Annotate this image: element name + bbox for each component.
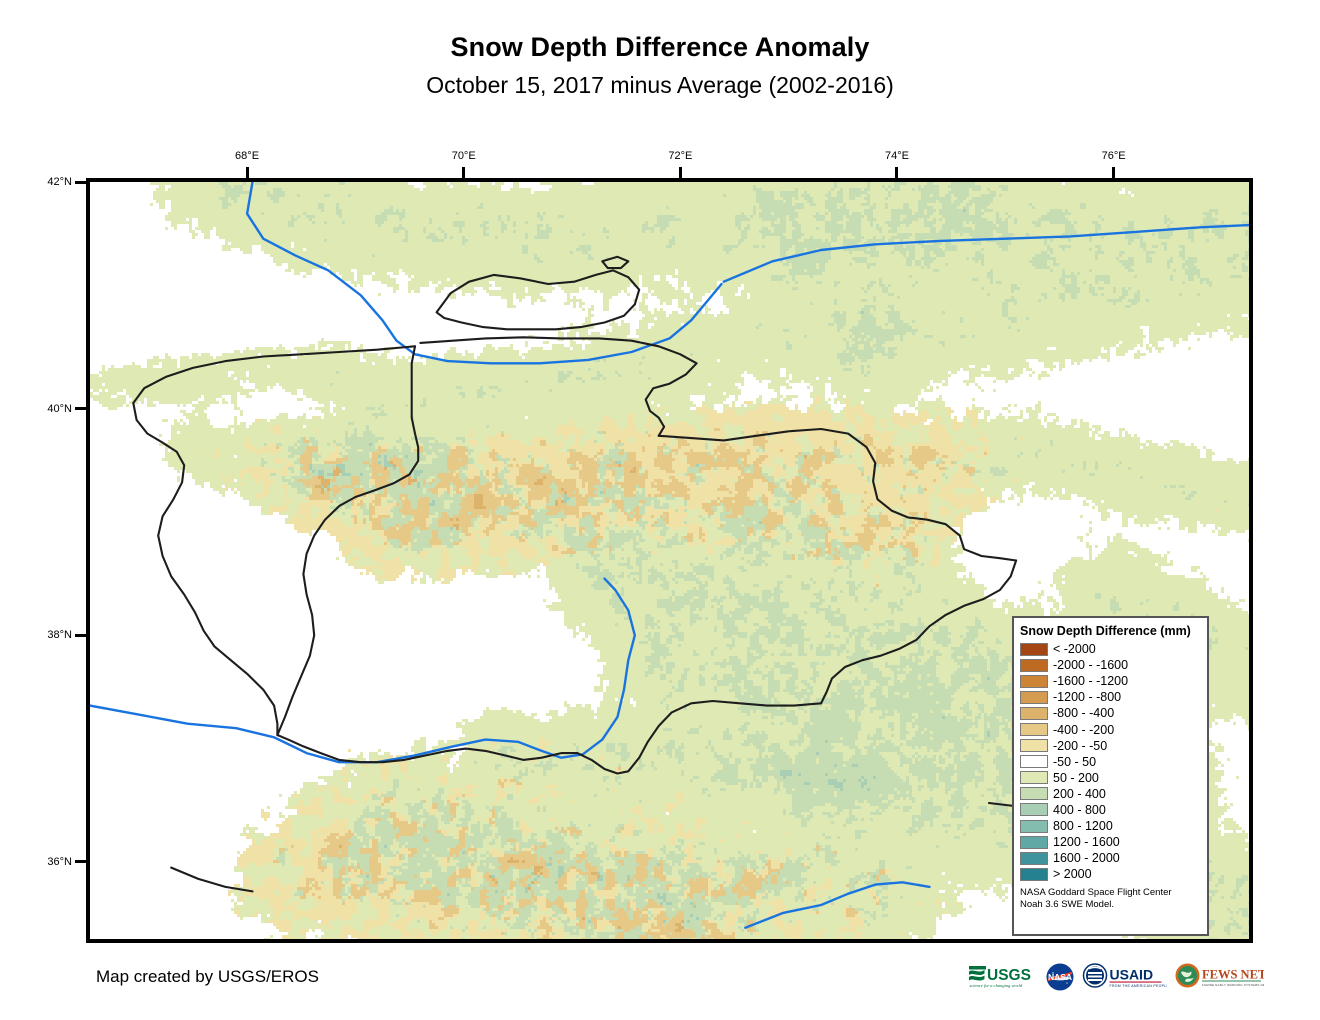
legend-row: -1600 - -1200 [1020,673,1201,689]
river-line [724,225,1249,282]
river-line [745,882,929,927]
legend-swatch [1020,803,1048,816]
longitude-tick [246,167,249,178]
country-border-line [133,346,415,735]
legend-row: -400 - -200 [1020,721,1201,737]
legend-label: 1600 - 2000 [1053,851,1120,865]
longitude-tick [679,167,682,178]
logo-strip: USGS science for a changing world NASA U… [968,960,1264,994]
svg-text:USGS: USGS [987,967,1031,984]
svg-text:science for a changing world: science for a changing world [970,983,1023,988]
country-borders-layer [133,257,1108,892]
legend-credit: NASA Goddard Space Flight Center Noah 3.… [1020,887,1201,910]
legend-label: -800 - -400 [1053,706,1114,720]
legend-swatch [1020,836,1048,849]
legend-label: > 2000 [1053,867,1092,881]
latitude-tick [75,181,86,184]
country-border-line [420,337,696,436]
legend-label: -50 - 50 [1053,755,1096,769]
legend-row: -50 - 50 [1020,754,1201,770]
page-subtitle: October 15, 2017 minus Average (2002-201… [0,70,1320,100]
svg-text:FAMINE EARLY WARNING SYSTEMS N: FAMINE EARLY WARNING SYSTEMS NETWORK [1202,983,1264,987]
longitude-label: 72°E [668,150,692,162]
longitude-label: 68°E [235,150,259,162]
legend-swatch [1020,691,1048,704]
legend-label: 200 - 400 [1053,787,1106,801]
country-border-line [437,270,640,329]
svg-text:FEWS NET: FEWS NET [1202,968,1264,982]
longitude-label: 76°E [1102,150,1126,162]
legend-row: -2000 - -1600 [1020,657,1201,673]
fewsnet-logo: FEWS NET FAMINE EARLY WARNING SYSTEMS NE… [1174,962,1264,992]
legend-swatch [1020,707,1048,720]
legend-row: 800 - 1200 [1020,818,1201,834]
legend-label: 400 - 800 [1053,803,1106,817]
legend: Snow Depth Difference (mm) < -2000-2000 … [1012,616,1209,936]
usgs-logo: USGS science for a changing world [968,962,1038,992]
country-border-line [659,429,1016,561]
longitude-label: 74°E [885,150,909,162]
latitude-label: 42°N [28,176,72,188]
legend-label: 1200 - 1600 [1053,835,1120,849]
country-border-line [277,346,418,735]
legend-swatch [1020,643,1048,656]
longitude-label: 70°E [452,150,476,162]
legend-swatch [1020,659,1048,672]
river-line [90,579,635,763]
legend-row: -1200 - -800 [1020,689,1201,705]
country-border-line [602,257,628,268]
legend-swatch [1020,787,1048,800]
legend-row: -800 - -400 [1020,705,1201,721]
legend-row: 1600 - 2000 [1020,850,1201,866]
river-line [247,182,721,363]
legend-row: > 2000 [1020,866,1201,882]
svg-text:NASA: NASA [1048,972,1072,982]
country-border-line [821,561,1016,704]
legend-label: -400 - -200 [1053,723,1114,737]
latitude-label: 38°N [28,629,72,641]
legend-swatch [1020,723,1048,736]
usaid-logo: USAID FROM THE AMERICAN PEOPLE [1082,962,1167,992]
legend-swatch [1020,852,1048,865]
legend-row: 200 - 400 [1020,786,1201,802]
legend-title: Snow Depth Difference (mm) [1020,623,1201,639]
country-border-line [171,868,252,892]
legend-row: -200 - -50 [1020,738,1201,754]
legend-credit-line-2: Noah 3.6 SWE Model. [1020,899,1201,911]
nasa-logo: NASA [1045,962,1075,992]
legend-swatch [1020,771,1048,784]
map-credit: Map created by USGS/EROS [96,967,319,987]
latitude-label: 40°N [28,403,72,415]
legend-label: -1200 - -800 [1053,690,1121,704]
legend-label: < -2000 [1053,642,1096,656]
page-title: Snow Depth Difference Anomaly [0,30,1320,64]
latitude-tick [75,860,86,863]
legend-row: < -2000 [1020,641,1201,657]
legend-swatch [1020,820,1048,833]
legend-label: 800 - 1200 [1053,819,1113,833]
legend-label: 50 - 200 [1053,771,1099,785]
svg-text:FROM THE AMERICAN PEOPLE: FROM THE AMERICAN PEOPLE [1110,984,1168,988]
legend-swatch [1020,675,1048,688]
latitude-label: 36°N [28,856,72,868]
legend-label: -2000 - -1600 [1053,658,1128,672]
title-block: Snow Depth Difference Anomaly October 15… [0,30,1320,100]
longitude-tick [895,167,898,178]
country-border-line [277,701,821,774]
longitude-tick [462,167,465,178]
legend-label: -200 - -50 [1053,739,1107,753]
latitude-tick [75,407,86,410]
svg-text:USAID: USAID [1110,967,1154,983]
legend-row: 1200 - 1600 [1020,834,1201,850]
legend-row: 50 - 200 [1020,770,1201,786]
longitude-tick [1112,167,1115,178]
legend-swatch [1020,868,1048,881]
latitude-tick [75,634,86,637]
legend-class-list: < -2000-2000 - -1600-1600 - -1200-1200 -… [1020,641,1201,882]
legend-row: 400 - 800 [1020,802,1201,818]
legend-credit-line-1: NASA Goddard Space Flight Center [1020,887,1201,899]
legend-swatch [1020,739,1048,752]
legend-label: -1600 - -1200 [1053,674,1128,688]
legend-swatch [1020,755,1048,768]
